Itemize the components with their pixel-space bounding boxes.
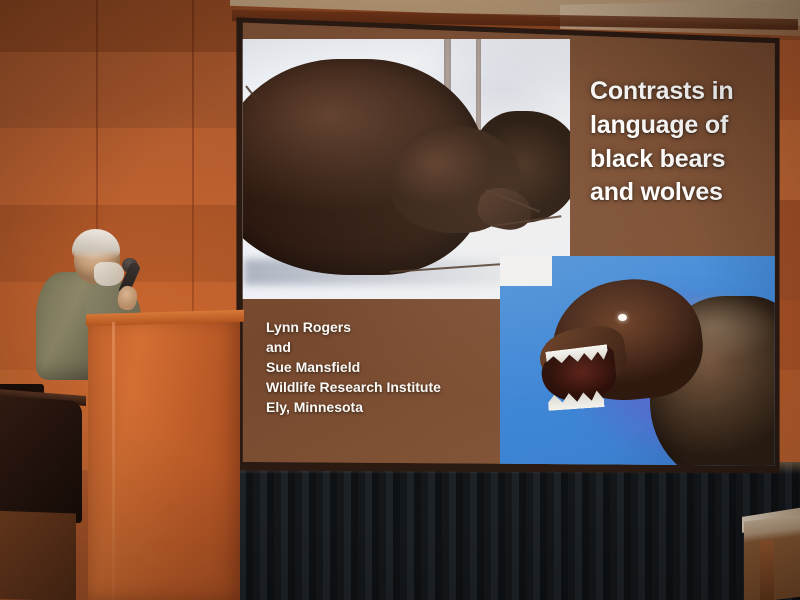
wolf-eye — [618, 314, 627, 321]
conference-presentation-photo: Contrasts in language of black bears and… — [0, 0, 800, 600]
wolf-photo — [500, 256, 778, 472]
podium — [88, 318, 240, 600]
credit-organization: Wildlife Research Institute — [266, 378, 441, 398]
stage-curtain — [232, 462, 800, 600]
foreground-chair — [0, 395, 82, 524]
slide-title-line: language of — [590, 109, 776, 143]
side-table-leg — [760, 540, 774, 600]
slide-title-line: and wolves — [590, 176, 776, 210]
credit-presenter-secondary: Sue Mansfield — [266, 358, 441, 378]
podium-corner-edge — [112, 322, 115, 600]
credit-location: Ely, Minnesota — [266, 398, 441, 418]
chair-base — [0, 510, 76, 600]
slide-credits: Lynn Rogers and Sue Mansfield Wildlife R… — [266, 318, 441, 417]
credit-presenter-primary: Lynn Rogers — [266, 318, 441, 338]
slide-title: Contrasts in language of black bears and… — [590, 75, 776, 210]
speaker-beard — [94, 262, 124, 286]
slide-title-line: Contrasts in — [590, 75, 776, 109]
projection-screen: Contrasts in language of black bears and… — [238, 13, 778, 472]
slide-title-line: black bears — [590, 143, 776, 177]
credit-conjunction: and — [266, 338, 441, 358]
